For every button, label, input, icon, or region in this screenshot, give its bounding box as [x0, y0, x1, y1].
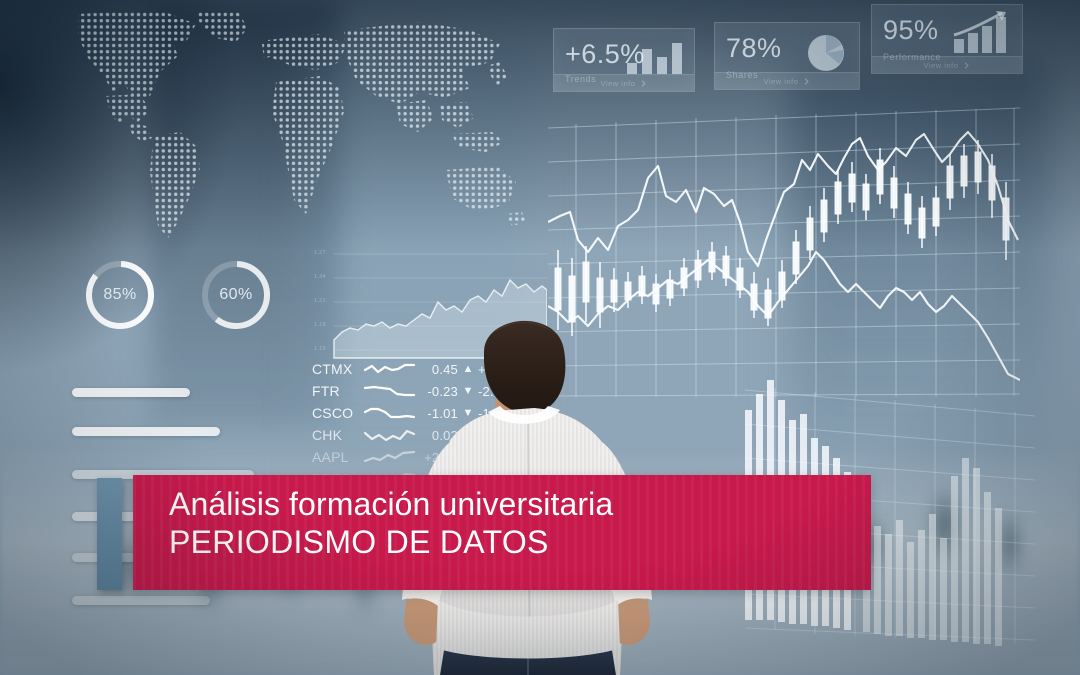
kpi-footer-label-performance: View info	[924, 61, 959, 70]
area-chart-ytick-4: 1.15	[314, 346, 326, 352]
gauge-60: 60%	[198, 257, 274, 333]
kpi-footer-performance[interactable]: View info	[872, 56, 1022, 73]
progress-bar-1	[72, 388, 190, 397]
ticker-symbol: CHK	[312, 427, 364, 443]
progress-bar-2	[72, 427, 220, 436]
chevron-right-icon	[640, 80, 647, 87]
kpi-footer-trends[interactable]: View info	[554, 74, 694, 91]
kpi-footer-label-trends: View info	[601, 79, 636, 88]
growth-bars-icon	[952, 11, 1014, 53]
gauge-60-label: 60%	[198, 257, 274, 333]
pie-chart-icon	[805, 32, 847, 74]
kpi-value-shares: 78%	[726, 35, 782, 62]
ticker-symbol: AAPL	[312, 449, 364, 465]
dotted-world-map-icon	[0, 0, 540, 240]
chevron-right-icon	[803, 78, 810, 85]
kpi-card-shares[interactable]: 78% Shares View info	[714, 22, 860, 90]
kpi-footer-label-shares: View info	[764, 77, 799, 86]
ticker-symbol: CTMX	[312, 361, 364, 377]
gauge-85-label: 85%	[82, 257, 158, 333]
title-banner: Análisis formación universitaria PERIODI…	[133, 475, 871, 590]
banner-text-group: Análisis formación universitaria PERIODI…	[169, 487, 859, 561]
banner-title-line2: PERIODISMO DE DATOS	[169, 525, 859, 561]
area-chart-ytick-0: 1.27	[314, 250, 326, 256]
kpi-value-performance: 95%	[883, 17, 939, 44]
bar-chart-icon	[627, 41, 685, 74]
kpi-card-trends[interactable]: +6.5% Trends View info	[553, 28, 695, 92]
ticker-symbol: FTR	[312, 383, 364, 399]
gauge-85: 85%	[82, 257, 158, 333]
banner-title-line1: Análisis formación universitaria	[169, 487, 859, 523]
ticker-symbol: CSCO	[312, 405, 364, 421]
kpi-footer-shares[interactable]: View info	[715, 72, 859, 89]
chevron-right-icon	[963, 62, 970, 69]
banner-accent-block	[97, 478, 122, 590]
kpi-card-performance[interactable]: 95% Performance View info	[871, 4, 1023, 74]
progress-bar-6	[72, 596, 210, 605]
area-chart-ytick-2: 1.21	[314, 298, 326, 304]
area-chart-ytick-1: 1.24	[314, 274, 326, 280]
area-chart-ytick-3: 1.18	[314, 322, 326, 328]
promo-banner-image: +6.5% Trends View info 78% Shares View i…	[0, 0, 1080, 675]
